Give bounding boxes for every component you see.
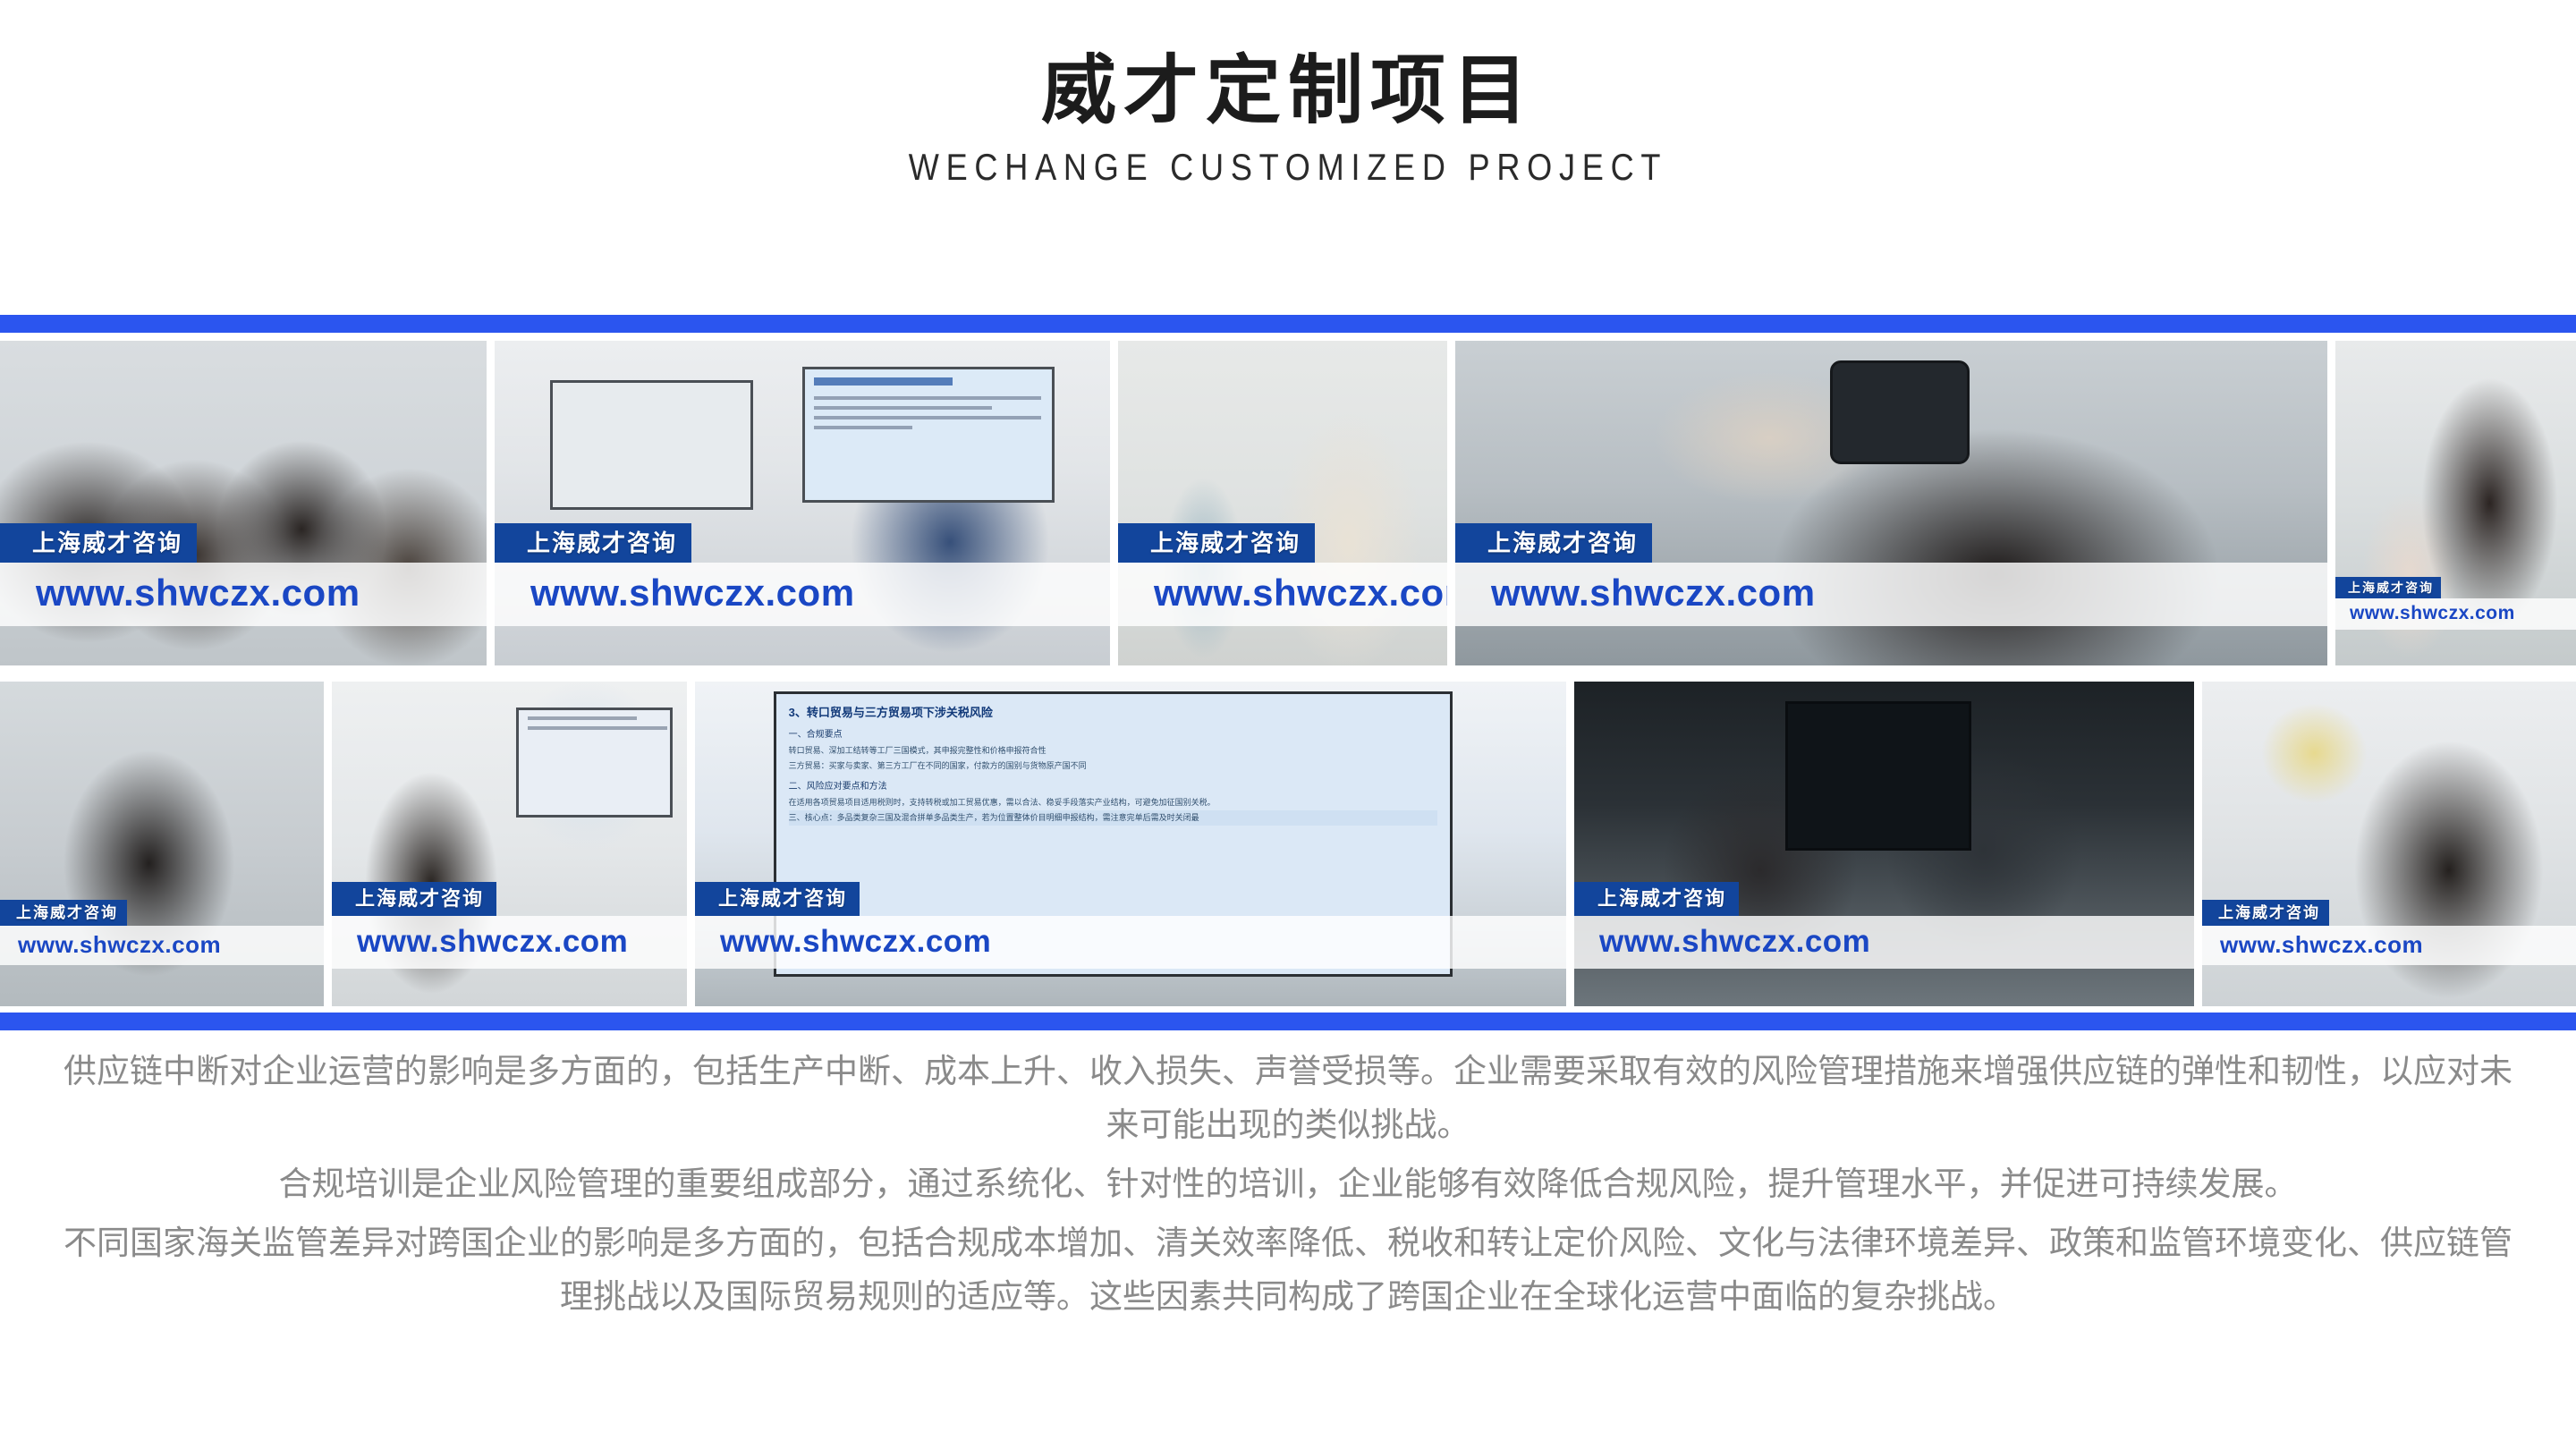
body-paragraph-3: 不同国家海关监管差异对跨国企业的影响是多方面的，包括合规成本增加、清关效率降低、… [0, 1216, 2576, 1324]
divider-bottom [0, 1013, 2576, 1030]
watermark: 上海威才咨询 www.shwczx.com [0, 900, 324, 965]
photo-female-attendee-listening[interactable]: 上海威才咨询 www.shwczx.com [0, 682, 324, 1006]
slide-heading: 3、转口贸易与三方贸易项下涉关税风险 [789, 703, 1438, 720]
watermark-url: www.shwczx.com [0, 563, 487, 626]
watermark-brand-tag: 上海威才咨询 [2202, 900, 2329, 926]
watermark-brand-tag: 上海威才咨询 [1118, 523, 1315, 563]
slide-line-3: 二、风险应对要点和方法 [789, 778, 1438, 796]
watermark: 上海威才咨询 www.shwczx.com [1455, 523, 2327, 626]
watermark-url: www.shwczx.com [1455, 563, 2327, 626]
watermark-brand-tag: 上海威才咨询 [0, 900, 127, 926]
poster-page: 威才定制项目 WECHANGE CUSTOMIZED PROJECT 上海威才咨… [0, 0, 2576, 1449]
divider-top [0, 315, 2576, 333]
watermark-brand-tag: 上海威才咨询 [2335, 577, 2441, 598]
photo-classroom-attendees[interactable]: 上海威才咨询 www.shwczx.com [0, 341, 487, 665]
photo-presentation-screen-slide[interactable]: 3、转口贸易与三方贸易项下涉关税风险 一、合规要点 转口贸易、深加工结转等工厂三… [695, 682, 1566, 1006]
photo-gallery: 上海威才咨询 www.shwczx.com 上海威才咨询 www.shwczx.… [0, 341, 2576, 1006]
watermark-url: www.shwczx.com [495, 563, 1110, 626]
body-copy: 供应链中断对企业运营的影响是多方面的，包括生产中断、成本上升、收入损失、声誉受损… [0, 1045, 2576, 1324]
slide-line-2: 三方贸易：买家与卖家、第三方工厂在不同的国家，付款方的国别与货物原产国不同 [789, 758, 1438, 774]
photo-attendee-photographing-slide[interactable]: 上海威才咨询 www.shwczx.com [1455, 341, 2327, 665]
page-subtitle: WECHANGE CUSTOMIZED PROJECT [181, 146, 2396, 189]
slide-line-0: 一、合规要点 [789, 727, 1438, 744]
screen-line [814, 416, 1041, 419]
watermark-url: www.shwczx.com [0, 926, 324, 965]
back-monitor [1785, 701, 1971, 851]
photo-attendee-with-water-bottle[interactable]: 上海威才咨询 www.shwczx.com [1118, 341, 1447, 665]
photo-attendee-in-blue-polo[interactable]: 上海威才咨询 www.shwczx.com [2202, 682, 2576, 1006]
poster-header: 威才定制项目 WECHANGE CUSTOMIZED PROJECT [0, 0, 2576, 189]
phone-screen [1830, 360, 1970, 464]
body-paragraph-1: 供应链中断对企业运营的影响是多方面的，包括生产中断、成本上升、收入损失、声誉受损… [0, 1045, 2576, 1152]
watermark-url: www.shwczx.com [2335, 598, 2576, 630]
photo-trainer-at-whiteboard[interactable]: 上海威才咨询 www.shwczx.com [495, 341, 1110, 665]
watermark: 上海威才咨询 www.shwczx.com [2202, 900, 2576, 965]
slide-line-5: 三、核心点：多品类复杂三国及混合拼单多品类生产，若为位置整体价目明细申报结构，需… [789, 810, 1438, 826]
watermark: 上海威才咨询 www.shwczx.com [1118, 523, 1447, 626]
watermark-brand-tag: 上海威才咨询 [0, 523, 197, 563]
watermark: 上海威才咨询 www.shwczx.com [495, 523, 1110, 626]
watermark: 上海威才咨询 www.shwczx.com [0, 523, 487, 626]
photo-attendee-taking-notes[interactable]: 上海威才咨询 www.shwczx.com [2335, 341, 2576, 665]
gallery-row-2: 上海威才咨询 www.shwczx.com 上海威才咨询 www.shwczx.… [0, 682, 2576, 1006]
slide-line-1: 转口贸易、深加工结转等工厂三国模式，其申报完整性和价格申报符合性 [789, 743, 1438, 758]
watermark-brand-tag: 上海威才咨询 [332, 882, 496, 916]
screen-line [814, 426, 912, 429]
watermark: 上海威才咨询 www.shwczx.com [695, 882, 1566, 969]
watermark: 上海威才咨询 www.shwczx.com [2335, 577, 2576, 630]
watermark-brand-tag: 上海威才咨询 [1574, 882, 1739, 916]
watermark-url: www.shwczx.com [332, 916, 687, 969]
page-title: 威才定制项目 [0, 50, 2576, 131]
photo-two-attendees-discussion[interactable]: 上海威才咨询 www.shwczx.com [1574, 682, 2194, 1006]
watermark-brand-tag: 上海威才咨询 [695, 882, 860, 916]
gallery-row-1: 上海威才咨询 www.shwczx.com 上海威才咨询 www.shwczx.… [0, 341, 2576, 665]
screen-line [814, 396, 1041, 400]
watermark-url: www.shwczx.com [1118, 563, 1447, 626]
screen-line [528, 726, 666, 730]
watermark-url: www.shwczx.com [695, 916, 1566, 969]
photo-instructor-gesturing[interactable]: 上海威才咨询 www.shwczx.com [332, 682, 687, 1006]
wall-screen [516, 708, 673, 818]
watermark-brand-tag: 上海威才咨询 [1455, 523, 1652, 563]
body-paragraph-2: 合规培训是企业风险管理的重要组成部分，通过系统化、针对性的培训，企业能够有效降低… [0, 1157, 2576, 1211]
watermark-url: www.shwczx.com [1574, 916, 2194, 969]
watermark: 上海威才咨询 www.shwczx.com [332, 882, 687, 969]
screen-heading-bar [814, 377, 953, 386]
watermark: 上海威才咨询 www.shwczx.com [1574, 882, 2194, 969]
watermark-url: www.shwczx.com [2202, 926, 2576, 965]
side-monitor [550, 380, 753, 510]
whiteboard-screen [802, 367, 1055, 503]
watermark-brand-tag: 上海威才咨询 [495, 523, 691, 563]
screen-line [814, 406, 992, 410]
slide-line-4: 在适用各项贸易项目适用税则时，支持转税或加工贸易优惠，需以合法、稳妥手段落实产业… [789, 795, 1438, 810]
screen-line [528, 716, 636, 720]
